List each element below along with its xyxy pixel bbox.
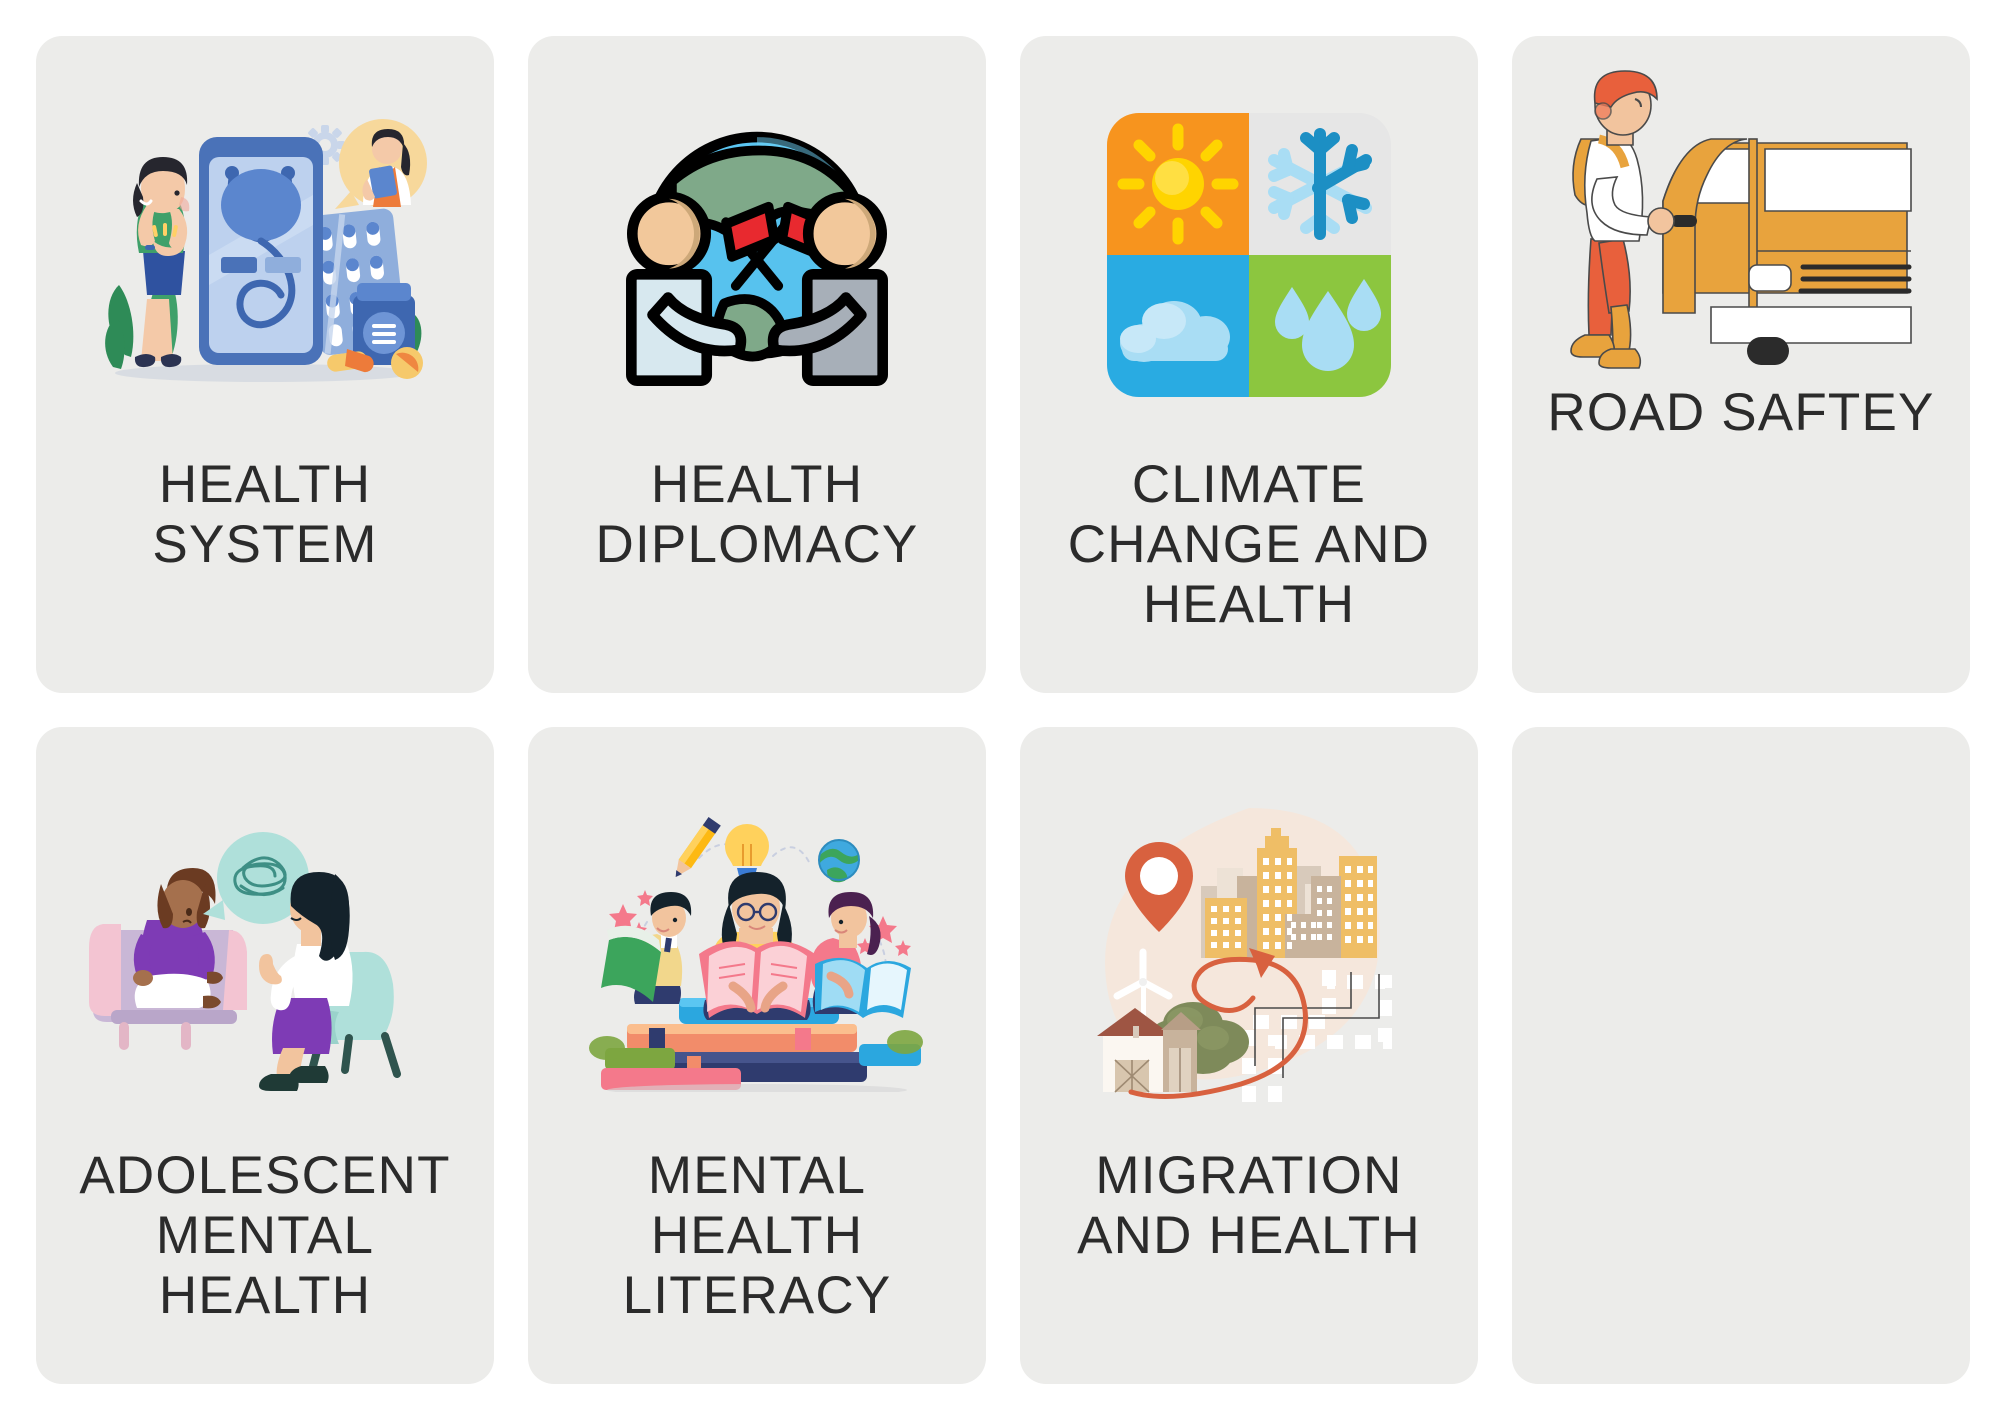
topic-card-health-system[interactable]: HEALTH SYSTEM bbox=[36, 36, 494, 693]
topic-card-road-saftey[interactable]: ROAD SAFTEY bbox=[1512, 36, 1970, 693]
card-label-line: HEALTH bbox=[1032, 575, 1466, 635]
topic-card-migration-and-health[interactable]: MIGRATION AND HEALTH bbox=[1020, 727, 1478, 1384]
card-label-line: MENTAL bbox=[540, 1146, 974, 1206]
migration-and-health-illustration bbox=[1020, 727, 1478, 1146]
topic-card-health-diplomacy[interactable]: HEALTH DIPLOMACY bbox=[528, 36, 986, 693]
health-diplomacy-illustration bbox=[528, 36, 986, 455]
climate-weather-quadrant-icon bbox=[1020, 36, 1478, 455]
topic-card-empty-placeholder[interactable] bbox=[1512, 727, 1970, 1384]
card-label-migration-and-health: MIGRATION AND HEALTH bbox=[1020, 1146, 1478, 1384]
card-label-climate-change-and-health: CLIMATE CHANGE AND HEALTH bbox=[1020, 455, 1478, 693]
health-system-illustration bbox=[36, 36, 494, 455]
mental-health-literacy-illustration bbox=[528, 727, 986, 1146]
card-label-health-system: HEALTH SYSTEM bbox=[36, 455, 494, 693]
card-label-line: HEALTH bbox=[540, 455, 974, 515]
card-label-line: HEALTH bbox=[540, 1206, 974, 1266]
card-label-line: LITERACY bbox=[540, 1266, 974, 1326]
topic-card-adolescent-mental-health[interactable]: ADOLESCENT MENTAL HEALTH bbox=[36, 727, 494, 1384]
card-label-road-saftey: ROAD SAFTEY bbox=[1512, 383, 1970, 693]
adolescent-mental-health-illustration bbox=[36, 727, 494, 1146]
topic-card-climate-change-and-health[interactable]: CLIMATE CHANGE AND HEALTH bbox=[1020, 36, 1478, 693]
card-label-line: CLIMATE bbox=[1032, 455, 1466, 515]
card-label-line: SYSTEM bbox=[48, 515, 482, 575]
card-label-line: MIGRATION bbox=[1032, 1146, 1466, 1206]
card-label-line: AND HEALTH bbox=[1032, 1206, 1466, 1266]
card-label-health-diplomacy: HEALTH DIPLOMACY bbox=[528, 455, 986, 693]
card-label-mental-health-literacy: MENTAL HEALTH LITERACY bbox=[528, 1146, 986, 1384]
topic-card-mental-health-literacy[interactable]: MENTAL HEALTH LITERACY bbox=[528, 727, 986, 1384]
card-label-line: DIPLOMACY bbox=[540, 515, 974, 575]
card-label-line: ROAD SAFTEY bbox=[1524, 383, 1958, 443]
topic-card-grid: HEALTH SYSTEM bbox=[0, 0, 2000, 1414]
card-label-line: ADOLESCENT bbox=[48, 1146, 482, 1206]
card-label-line: MENTAL bbox=[48, 1206, 482, 1266]
card-label-adolescent-mental-health: ADOLESCENT MENTAL HEALTH bbox=[36, 1146, 494, 1384]
road-safety-illustration bbox=[1512, 36, 1970, 383]
card-label-line: CHANGE AND bbox=[1032, 515, 1466, 575]
card-label-line: HEALTH bbox=[48, 1266, 482, 1326]
card-label-line: HEALTH bbox=[48, 455, 482, 515]
